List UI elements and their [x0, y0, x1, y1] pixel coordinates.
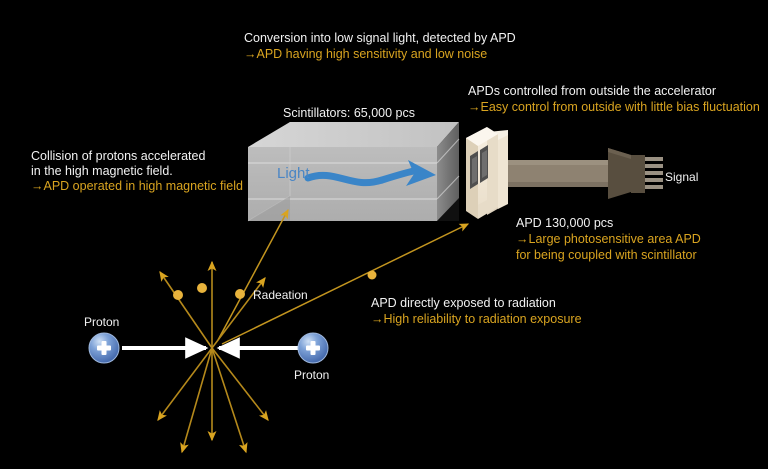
- radiation-dot-to-apd: [368, 271, 377, 280]
- connector-pins: [645, 157, 663, 189]
- callout-apd-count-line1: APD 130,000 pcs: [516, 216, 613, 231]
- signal-cable: [508, 160, 611, 187]
- callout-conversion-line1: Conversion into low signal light, detect…: [244, 31, 516, 46]
- label-scintillators: Scintillators: 65,000 pcs: [283, 106, 415, 121]
- diagram-canvas: Conversion into low signal light, detect…: [0, 0, 768, 469]
- callout-collision-line1: Collision of protons accelerated: [31, 149, 205, 164]
- label-proton-left: Proton: [84, 315, 119, 330]
- radiation-dot-left: [173, 290, 183, 300]
- radiation-dot-right: [235, 289, 245, 299]
- label-proton-right: Proton: [294, 368, 329, 383]
- callout-collision-line3: →APD operated in high magnetic field: [31, 179, 243, 194]
- radiation-ray-downleft: [158, 348, 212, 420]
- radiation-ray-upleft: [160, 272, 212, 348]
- radiation-ray-downsteep-left: [182, 348, 212, 452]
- callout-controlled-line1: APDs controlled from outside the acceler…: [468, 84, 716, 99]
- label-signal: Signal: [665, 170, 698, 185]
- radiation-ray-downright: [212, 348, 268, 420]
- callout-conversion-line2: →APD having high sensitivity and low noi…: [244, 47, 487, 62]
- apd-module: [466, 127, 508, 219]
- label-light: Light: [277, 166, 310, 181]
- label-radiation: Radeation: [253, 288, 308, 303]
- radiation-burst: [158, 262, 268, 452]
- radiation-ray-downsteep-right: [212, 348, 246, 452]
- callout-exposure-line2: →High reliability to radiation exposure: [371, 312, 582, 327]
- proton-particle-right: [298, 333, 328, 363]
- callout-apd-count-line3: for being coupled with scintillator: [516, 248, 697, 263]
- radiation-dot-top: [197, 283, 207, 293]
- callout-apd-count-line2: →Large photosensitive area APD: [516, 232, 701, 247]
- callout-controlled-line2: →Easy control from outside with little b…: [468, 100, 760, 115]
- signal-connector: [608, 148, 663, 199]
- proton-particle-left: [89, 333, 119, 363]
- callout-exposure-line1: APD directly exposed to radiation: [371, 296, 556, 311]
- callout-collision-line2: in the high magnetic field.: [31, 164, 173, 179]
- arrow-to-scintillator: [218, 210, 288, 340]
